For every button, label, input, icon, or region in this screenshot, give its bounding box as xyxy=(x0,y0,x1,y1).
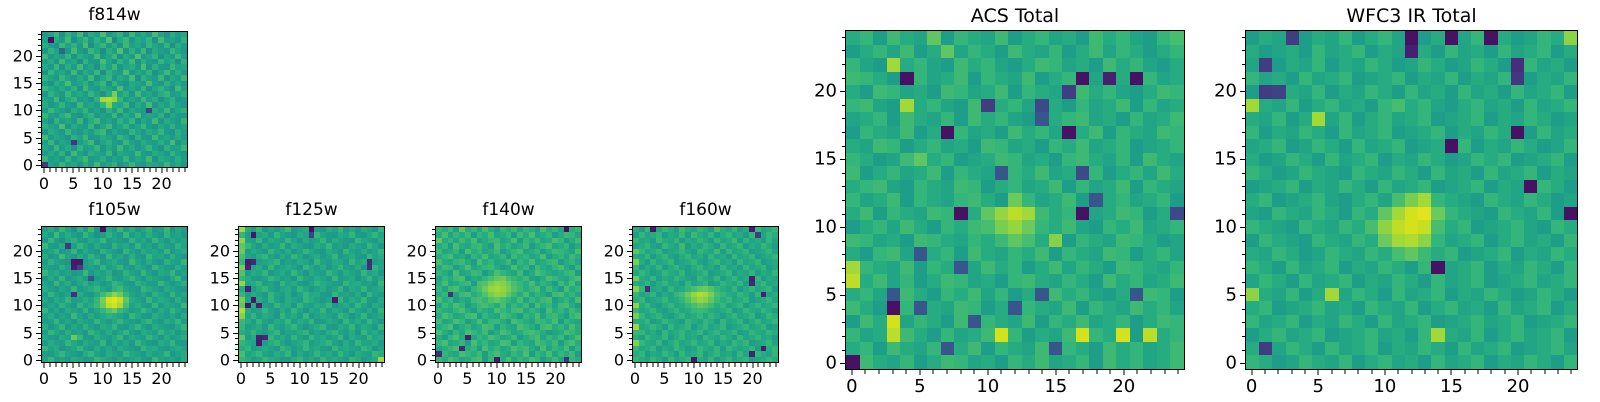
x-tick xyxy=(646,363,647,367)
heatmap-cell xyxy=(954,301,968,315)
x-tick xyxy=(479,363,480,367)
y-tick xyxy=(629,327,633,328)
heatmap-cell xyxy=(1378,112,1391,126)
heatmap-cell xyxy=(1049,261,1063,275)
x-tick xyxy=(1110,370,1111,374)
heatmap-cell xyxy=(900,139,914,153)
heatmap-cell xyxy=(1471,99,1484,113)
heatmap-cell xyxy=(1076,85,1090,99)
y-tick xyxy=(36,333,41,334)
heatmap-grid xyxy=(42,227,187,362)
y-tick xyxy=(38,289,42,290)
heatmap-cell xyxy=(1471,85,1484,99)
heatmap-cell xyxy=(1445,139,1458,153)
heatmap-cell xyxy=(1062,166,1076,180)
x-tick xyxy=(1491,370,1492,374)
heatmap-cell xyxy=(1299,72,1312,86)
y-tick xyxy=(627,333,632,334)
x-tick xyxy=(149,168,150,172)
heatmap-cell xyxy=(1378,301,1391,315)
x-tick xyxy=(317,363,318,367)
heatmap-cell xyxy=(1564,153,1577,167)
heatmap-cell xyxy=(1365,180,1378,194)
heatmap-cell xyxy=(900,355,914,369)
heatmap-cell xyxy=(1062,193,1076,207)
heatmap-cell xyxy=(1116,234,1130,248)
y-tick xyxy=(38,72,42,73)
y-tick xyxy=(629,229,633,230)
heatmap-cell xyxy=(1352,315,1365,329)
y-tick xyxy=(233,251,238,252)
heatmap-cell xyxy=(887,180,901,194)
y-tick xyxy=(38,149,42,150)
heatmap-cell xyxy=(1325,153,1338,167)
heatmap-cell xyxy=(995,220,1009,234)
y-tick xyxy=(430,360,435,361)
y-tick xyxy=(430,251,435,252)
heatmap-cell xyxy=(1076,328,1090,342)
heatmap-cell xyxy=(1524,342,1537,356)
heatmap-cell xyxy=(1246,220,1259,234)
x-tick xyxy=(108,168,109,172)
heatmap-cell xyxy=(954,193,968,207)
heatmap-cell xyxy=(1008,328,1022,342)
heatmap-cell xyxy=(1116,207,1130,221)
heatmap-cell xyxy=(954,31,968,45)
heatmap-cell xyxy=(1471,274,1484,288)
x-tick xyxy=(1069,370,1070,374)
x-tick xyxy=(705,363,706,367)
heatmap-cell xyxy=(1484,220,1497,234)
heatmap-cell xyxy=(1405,328,1418,342)
heatmap-cell xyxy=(1392,126,1405,140)
x-tick xyxy=(561,363,562,367)
heatmap-axes xyxy=(435,226,582,363)
x-tick xyxy=(61,168,62,172)
heatmap-cell xyxy=(1564,261,1577,275)
heatmap-cell xyxy=(1537,112,1550,126)
y-tick xyxy=(38,355,42,356)
heatmap-cell xyxy=(914,180,928,194)
heatmap-cell xyxy=(1049,153,1063,167)
heatmap-cell xyxy=(1170,126,1184,140)
heatmap-cell xyxy=(927,153,941,167)
heatmap-cell xyxy=(1484,72,1497,86)
heatmap-cell xyxy=(927,220,941,234)
y-tick-label: 0 xyxy=(184,351,230,370)
heatmap-cell xyxy=(1312,166,1325,180)
heatmap-cell xyxy=(1246,355,1259,369)
heatmap-cell xyxy=(1116,247,1130,261)
heatmap-cell xyxy=(846,99,860,113)
heatmap-cell xyxy=(1498,85,1511,99)
heatmap-cell xyxy=(860,301,874,315)
heatmap-cell xyxy=(1259,193,1272,207)
heatmap-cell xyxy=(1471,207,1484,221)
heatmap-cell xyxy=(1103,31,1117,45)
heatmap-cell xyxy=(1089,58,1103,72)
x-tick xyxy=(305,363,306,367)
heatmap-cell xyxy=(1130,247,1144,261)
y-tick xyxy=(842,37,846,38)
heatmap-cell xyxy=(1272,301,1285,315)
heatmap-cell xyxy=(1551,247,1564,261)
heatmap-cell xyxy=(1551,180,1564,194)
heatmap-cell xyxy=(1564,207,1577,221)
heatmap-cell xyxy=(1272,72,1285,86)
heatmap-cell xyxy=(1286,139,1299,153)
y-tick-label: 10 xyxy=(184,296,230,315)
heatmap-cell xyxy=(1143,247,1157,261)
heatmap-cell xyxy=(1062,153,1076,167)
heatmap-cell xyxy=(1431,72,1444,86)
x-tick xyxy=(155,168,156,172)
heatmap-cell xyxy=(873,355,887,369)
y-tick xyxy=(235,344,239,345)
heatmap-cell xyxy=(1392,153,1405,167)
heatmap-cell xyxy=(860,220,874,234)
y-tick xyxy=(235,262,239,263)
heatmap-cell xyxy=(941,274,955,288)
y-tick xyxy=(629,355,633,356)
y-tick xyxy=(842,336,846,337)
heatmap-cell xyxy=(900,328,914,342)
heatmap-cell xyxy=(1378,207,1391,221)
heatmap-cell xyxy=(1511,193,1524,207)
y-tick xyxy=(1242,64,1246,65)
heatmap-cell xyxy=(1392,261,1405,275)
heatmap-cell xyxy=(941,220,955,234)
heatmap-cell xyxy=(981,301,995,315)
heatmap-cell xyxy=(1524,139,1537,153)
heatmap-cell xyxy=(1365,355,1378,369)
heatmap-cell xyxy=(914,85,928,99)
y-tick xyxy=(432,338,436,339)
heatmap-cell xyxy=(887,31,901,45)
heatmap-cell xyxy=(1312,31,1325,45)
heatmap-cell xyxy=(1049,274,1063,288)
y-tick xyxy=(842,64,846,65)
heatmap-cell xyxy=(914,99,928,113)
heatmap-cell xyxy=(1431,58,1444,72)
heatmap-cell xyxy=(1143,274,1157,288)
heatmap-cell xyxy=(1484,166,1497,180)
heatmap-cell xyxy=(968,166,982,180)
heatmap-cell xyxy=(1143,193,1157,207)
heatmap-cell xyxy=(1130,207,1144,221)
heatmap-cell xyxy=(873,126,887,140)
x-tick xyxy=(49,363,50,367)
heatmap-cell xyxy=(1130,315,1144,329)
heatmap-cell xyxy=(1259,99,1272,113)
heatmap-cell xyxy=(1564,342,1577,356)
y-tick xyxy=(38,50,42,51)
x-tick xyxy=(55,363,56,367)
heatmap-cell xyxy=(1246,166,1259,180)
heatmap-cell xyxy=(1062,126,1076,140)
heatmap-cell xyxy=(1312,355,1325,369)
heatmap-cell xyxy=(1564,126,1577,140)
heatmap-cell xyxy=(1170,301,1184,315)
heatmap-cell xyxy=(1008,220,1022,234)
heatmap-cell xyxy=(1392,220,1405,234)
heatmap-cell xyxy=(1445,58,1458,72)
heatmap-cell xyxy=(927,207,941,221)
heatmap-cell xyxy=(1286,328,1299,342)
heatmap-cell xyxy=(1498,72,1511,86)
heatmap-cell xyxy=(1116,180,1130,194)
heatmap-cell xyxy=(914,139,928,153)
heatmap-cell xyxy=(1049,315,1063,329)
heatmap-cell xyxy=(1365,261,1378,275)
heatmap-cell xyxy=(1170,288,1184,302)
heatmap-cell xyxy=(1089,99,1103,113)
heatmap-cell xyxy=(1143,315,1157,329)
heatmap-cell xyxy=(1008,301,1022,315)
heatmap-cell xyxy=(1157,355,1171,369)
heatmap-cell xyxy=(1246,207,1259,221)
heatmap-cell xyxy=(1299,31,1312,45)
heatmap-cell xyxy=(1170,112,1184,126)
x-tick xyxy=(508,363,509,367)
heatmap-axes xyxy=(41,31,188,168)
y-tick xyxy=(38,273,42,274)
heatmap-cell xyxy=(1564,288,1577,302)
heatmap-cell xyxy=(1498,220,1511,234)
y-tick xyxy=(38,154,42,155)
heatmap-cell xyxy=(900,207,914,221)
heatmap-cell xyxy=(1405,274,1418,288)
heatmap-cell xyxy=(1130,112,1144,126)
heatmap-cell xyxy=(846,355,860,369)
y-tick xyxy=(1242,268,1246,269)
heatmap-cell xyxy=(1471,58,1484,72)
heatmap-cell xyxy=(995,85,1009,99)
heatmap-cell xyxy=(1339,328,1352,342)
heatmap-cell xyxy=(1246,274,1259,288)
heatmap-cell xyxy=(927,261,941,275)
x-tick xyxy=(1304,370,1305,374)
heatmap-cell xyxy=(995,315,1009,329)
heatmap-cell xyxy=(1458,301,1471,315)
x-tick-label: 10 xyxy=(93,174,113,193)
heatmap-cell xyxy=(1130,342,1144,356)
heatmap-cell xyxy=(1392,207,1405,221)
heatmap-cell xyxy=(1537,301,1550,315)
heatmap-cell xyxy=(1299,301,1312,315)
heatmap-cell xyxy=(1035,342,1049,356)
heatmap-cell xyxy=(1352,342,1365,356)
heatmap-cell xyxy=(1537,234,1550,248)
heatmap-cell xyxy=(1418,180,1431,194)
heatmap-cell xyxy=(1035,301,1049,315)
y-tick xyxy=(235,256,239,257)
y-tick xyxy=(235,234,239,235)
y-tick-label: 0 xyxy=(578,351,624,370)
y-tick xyxy=(235,300,239,301)
x-tick xyxy=(1096,370,1097,374)
y-tick xyxy=(38,132,42,133)
heatmap-cell xyxy=(1431,99,1444,113)
x-tick xyxy=(1424,370,1425,374)
heatmap-cell xyxy=(900,315,914,329)
x-tick xyxy=(1344,370,1345,374)
heatmap-cell xyxy=(995,58,1009,72)
heatmap-cell xyxy=(1170,342,1184,356)
heatmap-cell xyxy=(1076,234,1090,248)
heatmap-cell xyxy=(1551,99,1564,113)
heatmap-cell xyxy=(1259,58,1272,72)
heatmap-cell xyxy=(1418,112,1431,126)
heatmap-cell xyxy=(1143,139,1157,153)
y-tick xyxy=(432,289,436,290)
heatmap-cell xyxy=(1458,72,1471,86)
heatmap-cell xyxy=(1445,207,1458,221)
x-tick xyxy=(167,168,168,172)
x-tick xyxy=(555,363,556,368)
heatmap-cell xyxy=(1458,126,1471,140)
heatmap-cell xyxy=(1498,126,1511,140)
heatmap-cell xyxy=(1130,234,1144,248)
panel-f125w: f125w0510152005101520 xyxy=(178,198,385,395)
panel-title: f105w xyxy=(41,200,188,220)
x-tick xyxy=(776,363,777,367)
heatmap-cell xyxy=(1035,153,1049,167)
heatmap-grid xyxy=(1246,31,1577,369)
heatmap-cell xyxy=(1246,315,1259,329)
heatmap-cell xyxy=(1551,328,1564,342)
heatmap-cell xyxy=(927,58,941,72)
heatmap-cell xyxy=(1116,288,1130,302)
heatmap-cell xyxy=(860,58,874,72)
x-tick xyxy=(960,370,961,374)
heatmap-cell xyxy=(914,31,928,45)
x-tick xyxy=(437,363,438,368)
y-tick xyxy=(38,100,42,101)
heatmap-cell xyxy=(1431,193,1444,207)
x-tick xyxy=(640,363,641,367)
heatmap-cell xyxy=(1511,139,1524,153)
y-tick xyxy=(1242,322,1246,323)
heatmap-cell xyxy=(1498,288,1511,302)
x-tick xyxy=(126,168,127,172)
heatmap-cell xyxy=(981,355,995,369)
x-tick-label: 15 xyxy=(122,369,142,388)
heatmap-cell xyxy=(1008,207,1022,221)
x-tick xyxy=(687,363,688,367)
heatmap-cell xyxy=(1299,139,1312,153)
y-tick-label: 15 xyxy=(184,269,230,288)
y-tick xyxy=(36,305,41,306)
heatmap-cell xyxy=(995,342,1009,356)
heatmap-cell xyxy=(1352,220,1365,234)
y-tick xyxy=(1242,37,1246,38)
heatmap-axes xyxy=(41,226,188,363)
heatmap-cell xyxy=(1076,99,1090,113)
heatmap-cell xyxy=(968,220,982,234)
heatmap-cell xyxy=(1498,207,1511,221)
heatmap-cell xyxy=(1339,261,1352,275)
heatmap-cell xyxy=(887,274,901,288)
heatmap-cell xyxy=(1103,328,1117,342)
x-tick xyxy=(55,168,56,172)
heatmap-cell xyxy=(1564,274,1577,288)
heatmap-cell xyxy=(1049,180,1063,194)
heatmap-cell xyxy=(954,247,968,261)
x-tick xyxy=(252,363,253,367)
heatmap-cell xyxy=(1022,355,1036,369)
heatmap-cell xyxy=(1498,355,1511,369)
x-tick xyxy=(67,168,68,172)
heatmap-cell xyxy=(1089,274,1103,288)
heatmap-cell xyxy=(954,139,968,153)
heatmap-cell xyxy=(981,85,995,99)
heatmap-cell xyxy=(1392,31,1405,45)
heatmap-cell xyxy=(927,99,941,113)
heatmap-cell xyxy=(873,220,887,234)
heatmap-cell xyxy=(1157,274,1171,288)
heatmap-cell xyxy=(1076,153,1090,167)
heatmap-cell xyxy=(1551,45,1564,59)
heatmap-cell xyxy=(1299,99,1312,113)
heatmap-cell xyxy=(1299,45,1312,59)
heatmap-cell xyxy=(995,234,1009,248)
heatmap-cell xyxy=(1498,315,1511,329)
y-tick-label: 5 xyxy=(578,323,624,342)
heatmap-cell xyxy=(1511,112,1524,126)
heatmap-cell xyxy=(927,31,941,45)
heatmap-cell xyxy=(1089,207,1103,221)
x-tick-label: 15 xyxy=(1044,376,1067,397)
heatmap-cell xyxy=(873,58,887,72)
x-tick xyxy=(1371,370,1372,374)
heatmap-cell xyxy=(1524,207,1537,221)
heatmap-cell xyxy=(1008,166,1022,180)
heatmap-cell xyxy=(1365,85,1378,99)
heatmap-cell xyxy=(1008,153,1022,167)
heatmap-cell xyxy=(1272,58,1285,72)
heatmap-cell xyxy=(1431,166,1444,180)
heatmap-cell xyxy=(1339,220,1352,234)
heatmap-cell xyxy=(1008,247,1022,261)
heatmap-cell xyxy=(941,301,955,315)
heatmap-cell xyxy=(1325,72,1338,86)
heatmap-cell xyxy=(1143,234,1157,248)
y-tick-label: 10 xyxy=(381,296,427,315)
heatmap-cell xyxy=(1365,99,1378,113)
heatmap-cell xyxy=(1458,45,1471,59)
heatmap-cell xyxy=(1418,328,1431,342)
heatmap-cell xyxy=(1076,112,1090,126)
heatmap-cell xyxy=(1498,247,1511,261)
heatmap-cell xyxy=(1286,288,1299,302)
heatmap-cell xyxy=(1143,99,1157,113)
y-tick xyxy=(38,267,42,268)
heatmap-cell xyxy=(1130,58,1144,72)
heatmap-cell xyxy=(1445,31,1458,45)
x-tick xyxy=(467,363,468,368)
y-tick xyxy=(842,78,846,79)
heatmap-cell xyxy=(1418,58,1431,72)
heatmap-cell xyxy=(1325,207,1338,221)
heatmap-cell xyxy=(1325,180,1338,194)
heatmap-cell xyxy=(1537,72,1550,86)
heatmap-cell xyxy=(1103,315,1117,329)
heatmap-cell xyxy=(1286,247,1299,261)
x-tick xyxy=(79,363,80,367)
heatmap-cell xyxy=(1259,72,1272,86)
x-tick-label: 5 xyxy=(1313,376,1324,397)
